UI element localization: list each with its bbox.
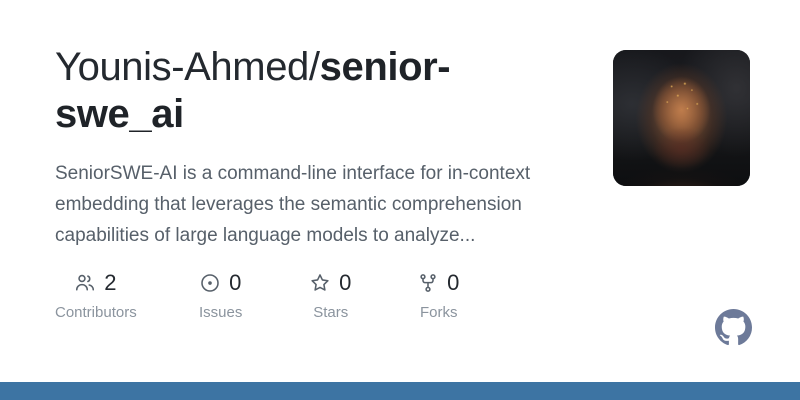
repo-forked-icon	[418, 273, 438, 293]
stat-issues-value: 0	[229, 272, 241, 294]
stat-forks-label: Forks	[420, 305, 458, 320]
bottom-accent-bar	[0, 382, 800, 400]
repository-info: Younis-Ahmed/senior-swe_ai SeniorSWE-AI …	[55, 44, 565, 320]
stat-forks-value: 0	[447, 272, 459, 294]
repository-description: SeniorSWE-AI is a command-line interface…	[55, 158, 560, 251]
avatar-photo-highlights	[662, 80, 706, 126]
repository-owner[interactable]: Younis-Ahmed	[55, 45, 309, 89]
stat-forks[interactable]: 0 Forks	[409, 270, 469, 320]
stat-issues-top: 0	[200, 270, 241, 296]
avatar-photo-shoulder	[613, 156, 750, 186]
avatar	[613, 50, 750, 186]
page-title: Younis-Ahmed/senior-swe_ai	[55, 44, 565, 138]
stat-stars-top: 0	[310, 270, 351, 296]
issue-opened-icon	[200, 273, 220, 293]
stat-contributors-label: Contributors	[55, 305, 137, 320]
people-icon	[75, 273, 95, 293]
stat-stars-value: 0	[339, 272, 351, 294]
stat-contributors-value: 2	[104, 272, 116, 294]
stat-contributors-top: 2	[75, 270, 116, 296]
stat-stars[interactable]: 0 Stars	[301, 270, 361, 320]
stat-forks-top: 0	[418, 270, 459, 296]
github-logo-icon	[715, 309, 752, 346]
star-icon	[310, 273, 330, 293]
stat-issues-label: Issues	[199, 305, 242, 320]
repository-stats: 2 Contributors 0 Issues	[55, 270, 565, 320]
repository-name-separator: /	[309, 45, 320, 89]
stat-issues[interactable]: 0 Issues	[191, 270, 251, 320]
repository-social-preview-card: Younis-Ahmed/senior-swe_ai SeniorSWE-AI …	[0, 0, 800, 400]
stat-stars-label: Stars	[313, 305, 348, 320]
stat-contributors[interactable]: 2 Contributors	[55, 270, 137, 320]
